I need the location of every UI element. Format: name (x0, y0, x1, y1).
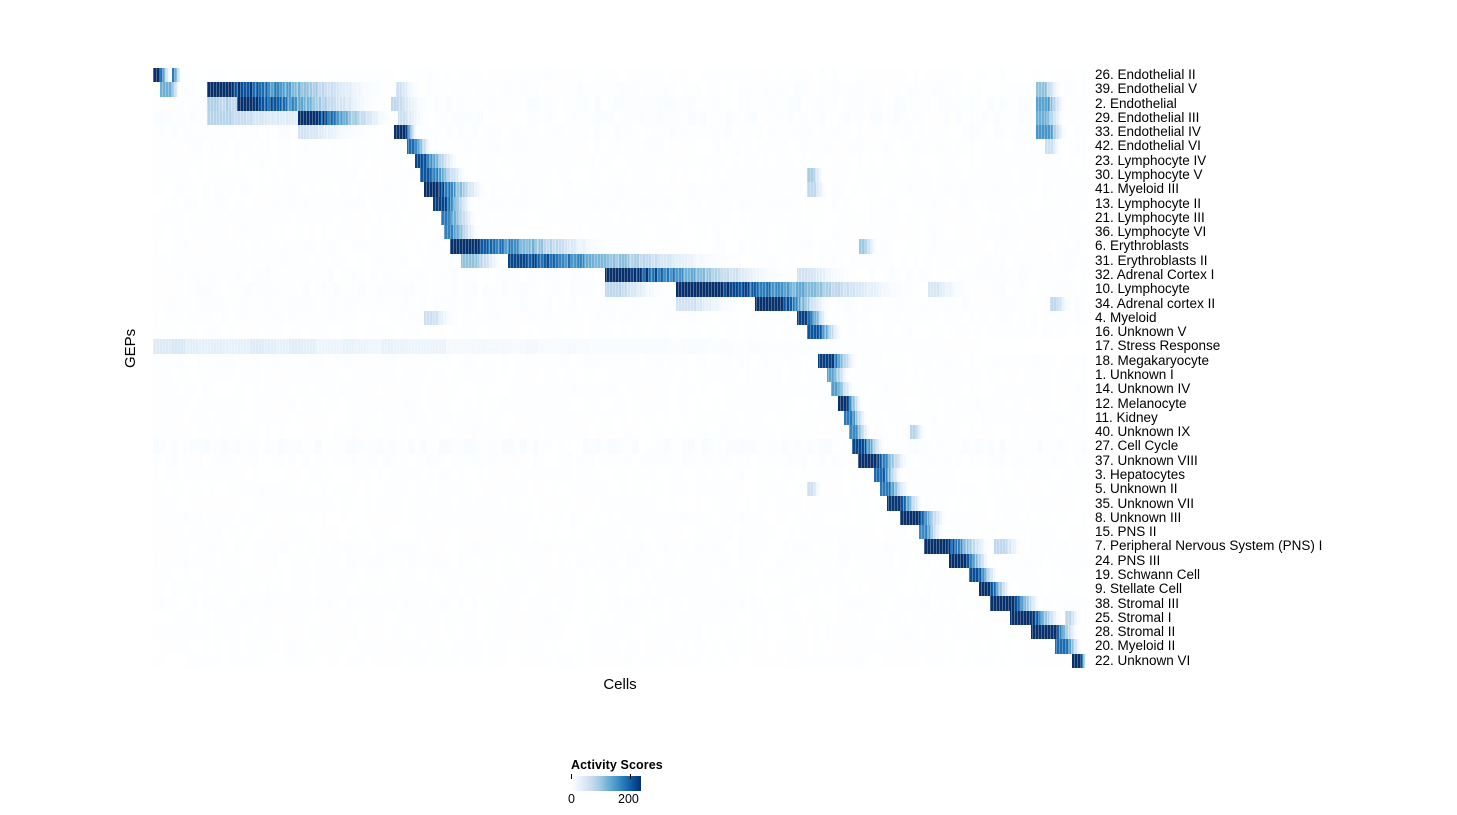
heatmap-cell (1081, 111, 1087, 125)
heatmap-row (153, 111, 1087, 125)
heatmap-block-peak (207, 97, 219, 111)
heatmap-block-fade (470, 168, 471, 182)
heatmap-block-peak (605, 282, 620, 296)
heatmap-cell (1081, 154, 1087, 168)
heatmap-block-fade (825, 168, 826, 182)
heatmap-row (153, 125, 1087, 139)
heatmap-block-fade (1066, 111, 1067, 125)
heatmap-block-fade (1063, 82, 1064, 96)
heatmap-plot-area (153, 68, 1087, 668)
heatmap-block-fade (1068, 97, 1069, 111)
heatmap-row (153, 297, 1087, 311)
heatmap-block-peak (207, 82, 234, 96)
heatmap-row (153, 225, 1087, 239)
heatmap-block-peak (1036, 82, 1046, 96)
heatmap-block-fade (862, 268, 863, 282)
heatmap-block-peak (420, 168, 430, 182)
heatmap-cell (1081, 197, 1087, 211)
heatmap-row (153, 254, 1087, 268)
heatmap-row (153, 139, 1087, 153)
heatmap-cell (1081, 125, 1087, 139)
heatmap-block-peak (207, 111, 223, 125)
heatmap-block-peak (1036, 125, 1050, 139)
heatmap-cell (1081, 282, 1087, 296)
heatmap-row (153, 168, 1087, 182)
heatmap-block-fade (748, 254, 752, 268)
heatmap-block-fade (974, 282, 975, 296)
heatmap-block-peak (461, 254, 475, 268)
heatmap-cell (1081, 254, 1087, 268)
heatmap-block-fade (829, 182, 830, 196)
heatmap-block-peak (797, 268, 807, 282)
heatmap-block-fade (418, 125, 419, 139)
heatmap-block-peak (237, 97, 254, 111)
heatmap-block-fade (461, 154, 462, 168)
heatmap-block-peak (433, 197, 445, 211)
heatmap-cell (1081, 139, 1087, 153)
heatmap-block-fade (618, 239, 621, 253)
heatmap-cell (1081, 97, 1087, 111)
heatmap-block-peak (605, 268, 632, 282)
heatmap-block-fade (488, 182, 489, 196)
heatmap-block-fade (433, 97, 434, 111)
heatmap-block-fade (433, 111, 434, 125)
heatmap-block-peak (298, 125, 308, 139)
heatmap-row (153, 182, 1087, 196)
heatmap-row (153, 68, 1087, 82)
heatmap-block-fade (181, 82, 182, 96)
heatmap-block-fade (1068, 125, 1069, 139)
heatmap-block-fade (183, 68, 184, 82)
heatmap-row (153, 197, 1087, 211)
heatmap-block-peak (394, 125, 406, 139)
heatmap-row (153, 268, 1087, 282)
heatmap-block-fade (475, 197, 476, 211)
heatmap-row (153, 211, 1087, 225)
heatmap-row (153, 82, 1087, 96)
heatmap-block-peak (676, 282, 723, 296)
heatmap-block-peak (1036, 97, 1049, 111)
heatmap-block-peak (160, 82, 172, 96)
heatmap-block-peak (928, 282, 938, 296)
heatmap-row (153, 239, 1087, 253)
heatmap-block-fade (479, 211, 480, 225)
heatmap-block-peak (1036, 111, 1047, 125)
heatmap-block-fade (385, 125, 387, 139)
heatmap-cell (1081, 225, 1087, 239)
heatmap-rows (153, 68, 1087, 668)
heatmap-block-fade (879, 239, 880, 253)
heatmap-block-fade (1063, 139, 1064, 153)
heatmap-cell (1081, 82, 1087, 96)
heatmap-block-peak (450, 239, 471, 253)
heatmap-cell (1081, 168, 1087, 182)
heatmap-block-peak (508, 254, 527, 268)
heatmap-cell (1081, 239, 1087, 253)
heatmap-block-peak (298, 111, 317, 125)
heatmap-block-peak (424, 182, 438, 196)
heatmap-cell (1081, 268, 1087, 282)
heatmap-row (153, 154, 1087, 168)
heatmap-cell (1081, 68, 1087, 82)
heatmap-cell (1081, 182, 1087, 196)
heatmap-block-fade (481, 225, 482, 239)
heatmap-cell (1081, 211, 1087, 225)
heatmap-block-fade (424, 82, 425, 96)
heatmap-row (153, 97, 1087, 111)
heatmap-block-fade (433, 139, 434, 153)
heatmap-row (153, 282, 1087, 296)
